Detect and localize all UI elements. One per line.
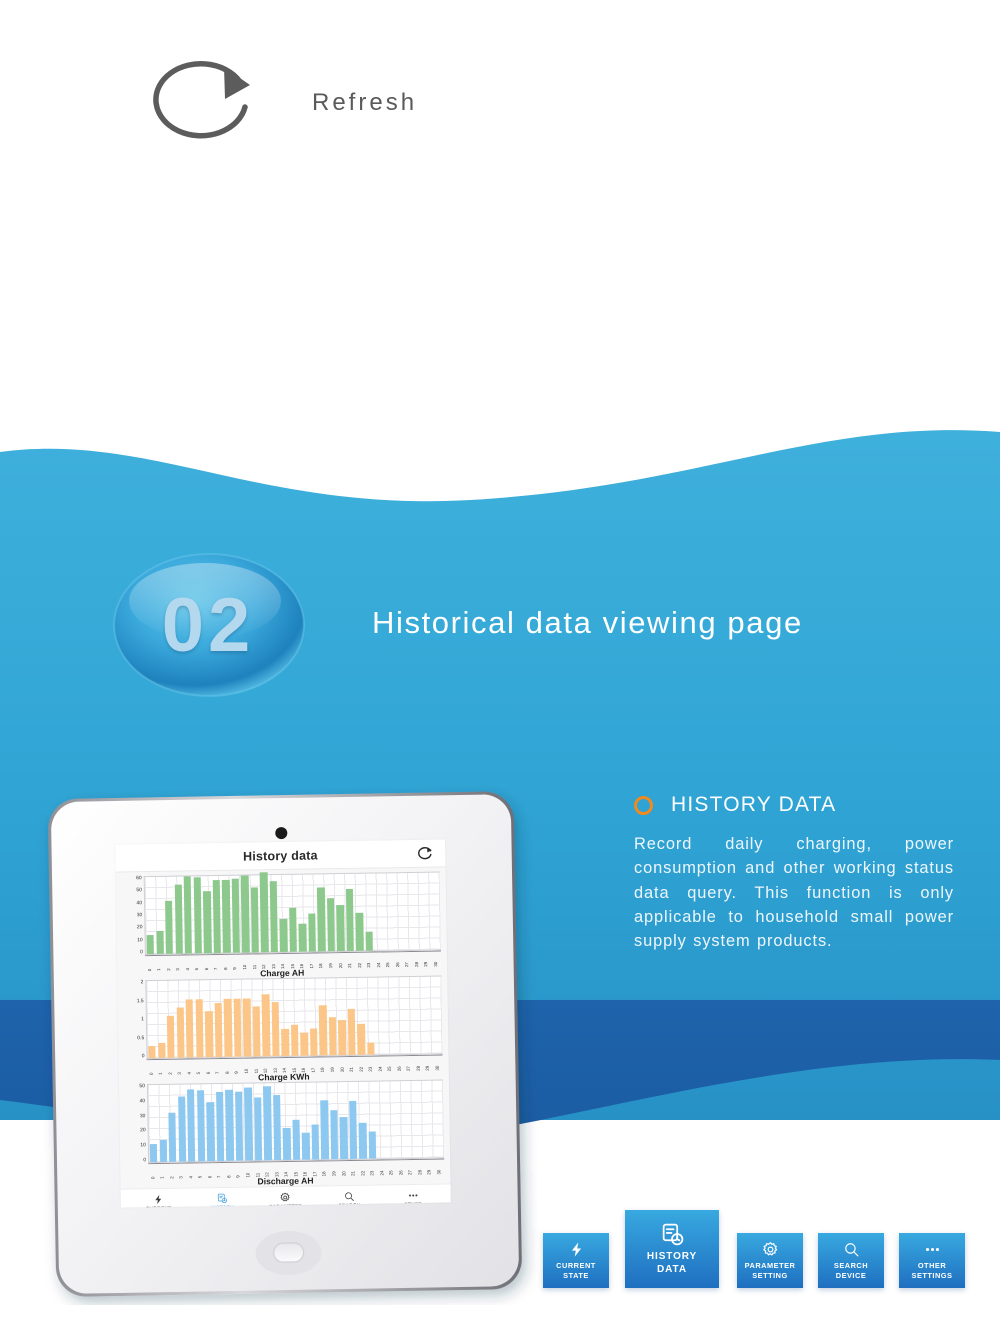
bottom-button-label: OTHERSETTINGS xyxy=(912,1261,953,1281)
bar xyxy=(197,1091,205,1162)
bar xyxy=(254,1097,262,1160)
bar xyxy=(291,1025,299,1056)
refresh-label: Refresh xyxy=(312,89,417,117)
y-axis-labels: 21.510.50 xyxy=(123,980,146,1059)
charts-container: 6050403020100 01234567891011121314151617… xyxy=(116,867,451,1188)
bar xyxy=(156,931,164,954)
magnifier-icon xyxy=(843,1241,860,1258)
bar xyxy=(330,1110,338,1159)
y-tick-label: 0.5 xyxy=(137,1036,144,1041)
y-tick-label: 40 xyxy=(136,901,142,906)
bar xyxy=(243,999,251,1057)
bar xyxy=(193,878,202,954)
bottom-button-label: HISTORYDATA xyxy=(647,1250,697,1276)
bar xyxy=(216,1092,224,1161)
app-title: History data xyxy=(243,848,318,863)
refresh-header: Refresh xyxy=(150,55,417,150)
y-tick-label: 20 xyxy=(137,926,143,931)
bar xyxy=(321,1100,329,1159)
bar xyxy=(150,1144,158,1162)
bar xyxy=(147,935,155,954)
bar xyxy=(283,1128,291,1160)
lightning-bolt-icon xyxy=(568,1241,585,1258)
info-panel-header: HISTORY DATA xyxy=(634,793,954,817)
y-axis-labels: 6050403020100 xyxy=(122,876,145,955)
bar xyxy=(311,1125,319,1160)
lightning-bolt-icon xyxy=(153,1192,164,1205)
bottom-button-lightning-bolt[interactable]: CURRENTSTATE xyxy=(543,1233,609,1288)
y-tick-label: 40 xyxy=(140,1099,146,1104)
bar xyxy=(244,1087,252,1160)
y-tick-label: 30 xyxy=(140,1114,146,1119)
bar xyxy=(251,887,259,953)
y-tick-label: 20 xyxy=(140,1129,146,1134)
plot-area xyxy=(147,1079,444,1163)
chart-charge-ah: 6050403020100 01234567891011121314151617… xyxy=(116,871,448,980)
bar xyxy=(329,1017,337,1056)
y-axis-labels: 50403020100 xyxy=(125,1084,148,1163)
y-tick-label: 50 xyxy=(139,1084,145,1089)
y-tick-label: 2 xyxy=(141,980,144,985)
chart-charge-kwh: 21.510.50 012345678910111213141516171819… xyxy=(117,975,449,1084)
bar xyxy=(174,884,182,953)
history-data-info-panel: HISTORY DATA Record daily charging, powe… xyxy=(634,793,954,953)
bar xyxy=(337,905,345,951)
bar xyxy=(224,999,232,1057)
bar xyxy=(369,1132,377,1159)
bar xyxy=(299,923,307,951)
bar xyxy=(310,1029,318,1056)
chart-discharge-ah: 50403020100 0123456789101112131415161718… xyxy=(119,1079,451,1188)
bar xyxy=(169,1113,177,1162)
y-tick-label: 1 xyxy=(141,1017,144,1022)
bar xyxy=(252,1006,260,1056)
bar xyxy=(302,1133,310,1160)
bar xyxy=(262,995,270,1057)
bar xyxy=(356,912,364,951)
bar xyxy=(184,876,193,953)
y-tick-label: 30 xyxy=(137,913,143,918)
y-tick-label: 10 xyxy=(140,1143,146,1148)
bar xyxy=(235,1091,243,1160)
bar xyxy=(348,1009,356,1055)
bar xyxy=(260,873,269,953)
refresh-circular-arrow-icon xyxy=(150,55,260,150)
plot-area xyxy=(144,872,441,956)
bar xyxy=(300,1033,308,1056)
bottom-button-label: CURRENTSTATE xyxy=(556,1261,596,1281)
bar xyxy=(340,1117,348,1159)
bar xyxy=(327,899,335,952)
y-tick-label: 0 xyxy=(142,1054,145,1059)
bar xyxy=(222,880,230,953)
bottom-button-document-clock[interactable]: HISTORYDATA xyxy=(625,1210,719,1288)
bar xyxy=(359,1123,367,1159)
bar xyxy=(281,1029,289,1056)
bar xyxy=(167,1015,175,1057)
bar xyxy=(186,1000,194,1058)
bar xyxy=(205,1011,213,1057)
bottom-button-ellipsis[interactable]: OTHERSETTINGS xyxy=(899,1233,965,1288)
y-tick-label: 0 xyxy=(143,1158,146,1163)
ellipsis-icon xyxy=(407,1188,418,1201)
bar xyxy=(165,901,173,954)
y-tick-label: 10 xyxy=(137,938,143,943)
bar xyxy=(319,1005,327,1055)
gear-icon xyxy=(762,1241,779,1258)
document-clock-icon xyxy=(217,1191,228,1204)
tablet-nav-item-1[interactable]: HISTORYDATA xyxy=(193,1191,251,1208)
bar xyxy=(308,913,316,952)
bar xyxy=(214,1003,222,1057)
tablet-nav-item-0[interactable]: CURRENTSTATE xyxy=(129,1192,187,1208)
bar xyxy=(366,931,374,950)
info-panel-title: HISTORY DATA xyxy=(671,793,836,817)
bar-series xyxy=(146,977,442,1059)
bar xyxy=(273,1095,281,1161)
bar xyxy=(233,999,241,1057)
bar-series xyxy=(148,1080,444,1162)
y-tick-label: 1.5 xyxy=(137,999,144,1004)
bar xyxy=(280,919,288,952)
refresh-arrow-icon[interactable] xyxy=(416,845,433,862)
bar xyxy=(212,880,220,953)
bar xyxy=(225,1090,233,1161)
bar xyxy=(231,878,239,953)
bar xyxy=(317,887,325,951)
bar xyxy=(206,1102,214,1161)
y-tick-label: 50 xyxy=(136,889,142,894)
bar xyxy=(178,1096,186,1162)
bar xyxy=(349,1101,357,1159)
bar xyxy=(158,1042,166,1058)
y-tick-label: 0 xyxy=(140,950,143,955)
section-number: 02 xyxy=(113,555,303,695)
ellipsis-icon xyxy=(924,1241,941,1258)
bar xyxy=(203,892,211,954)
bar xyxy=(346,889,354,951)
document-clock-icon xyxy=(660,1222,685,1247)
bar xyxy=(270,882,278,953)
bar xyxy=(148,1046,156,1058)
bottom-button-label: SEARCHDEVICE xyxy=(834,1261,868,1281)
bar xyxy=(271,1002,279,1056)
info-panel-description: Record daily charging, power consumption… xyxy=(634,832,954,953)
bar xyxy=(292,1120,300,1160)
bar xyxy=(187,1090,195,1162)
magnifier-icon xyxy=(344,1189,355,1202)
y-tick-label: 60 xyxy=(136,876,142,881)
bottom-button-row: CURRENTSTATE HISTORYDATA PARAMETERSETTIN… xyxy=(543,1196,963,1288)
bar xyxy=(289,908,297,952)
plot-area xyxy=(145,976,442,1060)
bar xyxy=(263,1086,271,1161)
bar xyxy=(338,1020,346,1055)
bar xyxy=(367,1043,375,1055)
tablet-screen: History data 6050403020100 0123456789101… xyxy=(115,839,451,1207)
bar xyxy=(241,876,250,953)
bottom-button-magnifier[interactable]: SEARCHDEVICE xyxy=(818,1233,884,1288)
bottom-button-gear[interactable]: PARAMETERSETTING xyxy=(737,1233,803,1288)
gear-icon xyxy=(280,1190,291,1203)
bar xyxy=(195,1000,203,1058)
bottom-button-label: PARAMETERSETTING xyxy=(745,1261,796,1281)
bar xyxy=(176,1008,184,1058)
bar xyxy=(159,1140,167,1162)
app-header: History data xyxy=(115,839,445,872)
section-badge: 02 xyxy=(113,555,303,695)
section-title: Historical data viewing page xyxy=(372,605,803,641)
bar xyxy=(357,1024,365,1055)
bar-series xyxy=(145,873,441,955)
orange-ring-icon xyxy=(634,796,653,815)
